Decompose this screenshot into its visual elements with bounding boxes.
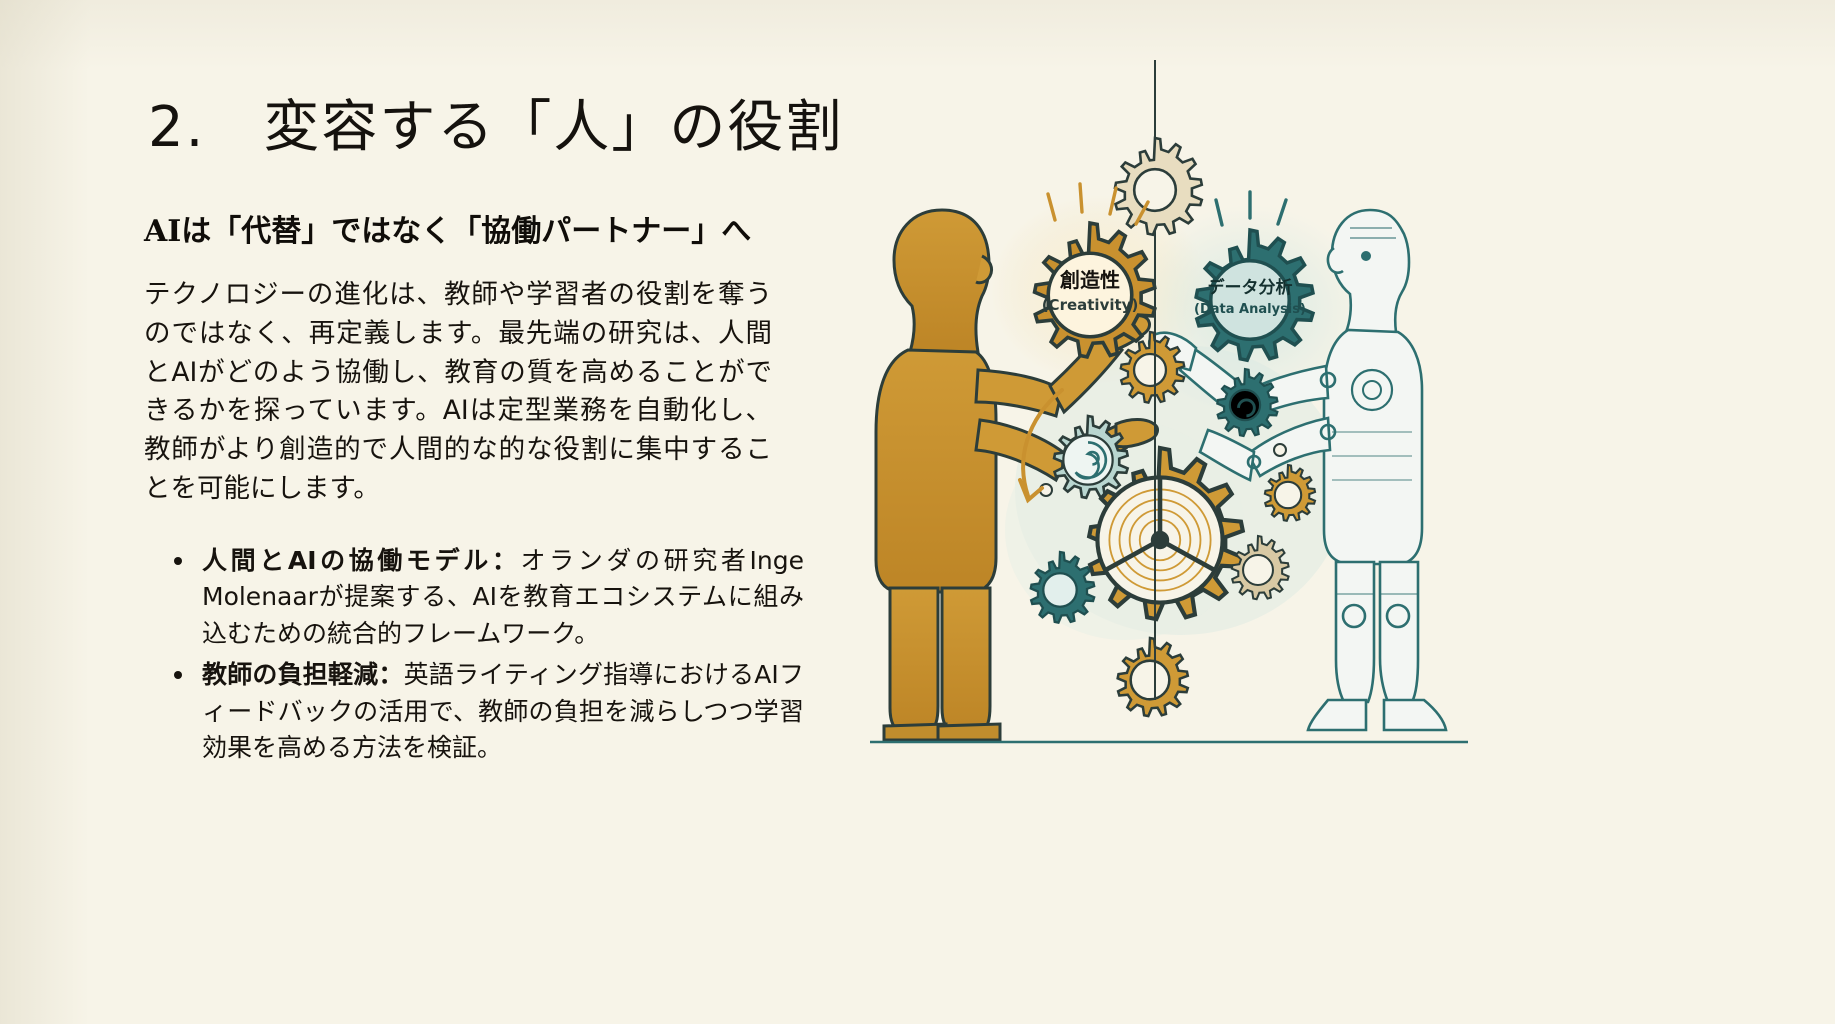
- bullet-separator: ：: [378, 660, 403, 689]
- page-title: 2. 変容する「人」の役割: [148, 96, 790, 160]
- text-column: 2. 変容する「人」の役割 AIは「代替」ではなく「協働パートナー」へ テクノロ…: [140, 96, 790, 771]
- list-item: 教師の負担軽減：英語ライティング指導におけるAIフィードバックの活用で、教師の負…: [170, 657, 804, 767]
- bullet-lead: 教師の負担軽減: [202, 660, 378, 689]
- slide-root: 2. 変容する「人」の役割 AIは「代替」ではなく「協働パートナー」へ テクノロ…: [0, 0, 1835, 1024]
- list-item: 人間とAIの協働モデル：オランダの研究者Inge Molenaarが提案する、A…: [170, 543, 804, 653]
- gear-label-data-en: (Data Analysis): [1194, 302, 1306, 317]
- bullet-separator: ：: [492, 546, 521, 575]
- illustration-human-ai-collaboration: 創造性 (Creativity) データ分析 (Data Analysis): [850, 60, 1550, 790]
- gear-top: [1115, 138, 1202, 235]
- gear-label-data-jp: データ分析: [1208, 277, 1293, 298]
- bullet-dot-icon: [174, 557, 182, 565]
- bullet-lead: 人間とAIの協働モデル: [202, 546, 492, 575]
- gear-label-creativity-en: (Creativity): [1042, 296, 1139, 314]
- slide-subtitle: AIは「代替」ではなく「協働パートナー」へ: [144, 206, 790, 250]
- bullet-dot-icon: [174, 671, 182, 679]
- bullet-list: 人間とAIの協働モデル：オランダの研究者Inge Molenaarが提案する、A…: [140, 543, 804, 768]
- gear-label-creativity-jp: 創造性: [1059, 268, 1120, 292]
- gear-bottom: [1118, 638, 1188, 716]
- body-paragraph: テクノロジーの進化は、教師や学習者の役割を奪うのではなく、再定義します。最先端の…: [144, 276, 772, 508]
